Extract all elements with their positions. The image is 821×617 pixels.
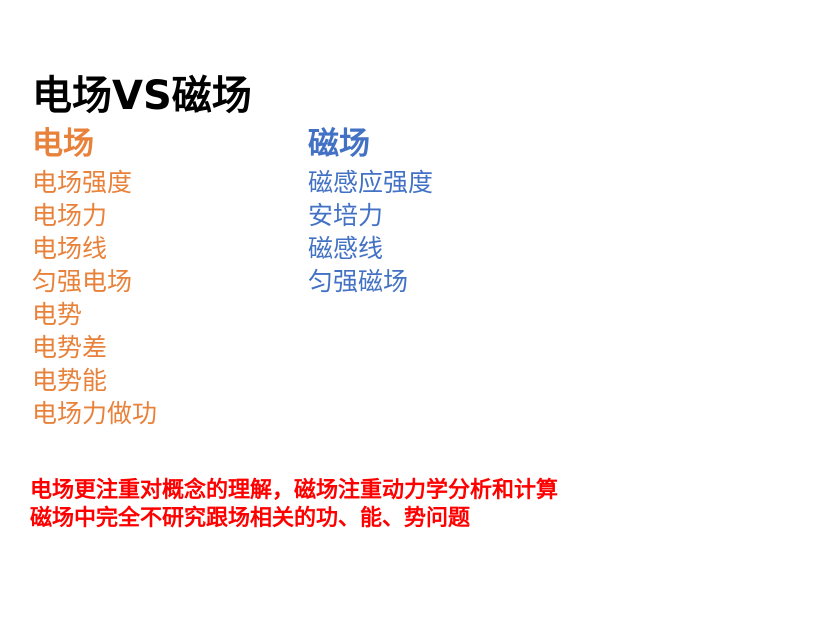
list-item: 磁感应强度 xyxy=(308,166,433,199)
column-header-electric-field: 电场 xyxy=(32,124,157,164)
list-item: 电场强度 xyxy=(32,166,157,199)
column-electric-field: 电场 电场强度 电场力 电场线 匀强电场 电势 电势差 电势能 电场力做功 xyxy=(32,124,157,430)
list-item: 安培力 xyxy=(308,199,433,232)
column-header-magnetic-field: 磁场 xyxy=(308,124,433,164)
summary-block: 电场更注重对概念的理解，磁场注重动力学分析和计算 磁场中完全不研究跟场相关的功、… xyxy=(30,477,790,533)
list-item: 电势 xyxy=(32,298,157,331)
column-magnetic-field: 磁场 磁感应强度 安培力 磁感线 匀强磁场 xyxy=(308,124,433,298)
term-list-magnetic-field: 磁感应强度 安培力 磁感线 匀强磁场 xyxy=(308,166,433,298)
term-list-electric-field: 电场强度 电场力 电场线 匀强电场 电势 电势差 电势能 电场力做功 xyxy=(32,166,157,430)
list-item: 电场力做功 xyxy=(32,397,157,430)
list-item: 电场线 xyxy=(32,232,157,265)
list-item: 匀强电场 xyxy=(32,265,157,298)
list-item: 电势差 xyxy=(32,331,157,364)
summary-line: 电场更注重对概念的理解，磁场注重动力学分析和计算 xyxy=(30,477,790,505)
list-item: 电场力 xyxy=(32,199,157,232)
summary-line: 磁场中完全不研究跟场相关的功、能、势问题 xyxy=(30,505,790,533)
slide-canvas: 电场VS磁场 电场 电场强度 电场力 电场线 匀强电场 电势 电势差 电势能 电… xyxy=(0,0,821,617)
list-item: 匀强磁场 xyxy=(308,265,433,298)
list-item: 磁感线 xyxy=(308,232,433,265)
list-item: 电势能 xyxy=(32,364,157,397)
page-title: 电场VS磁场 xyxy=(32,71,252,121)
